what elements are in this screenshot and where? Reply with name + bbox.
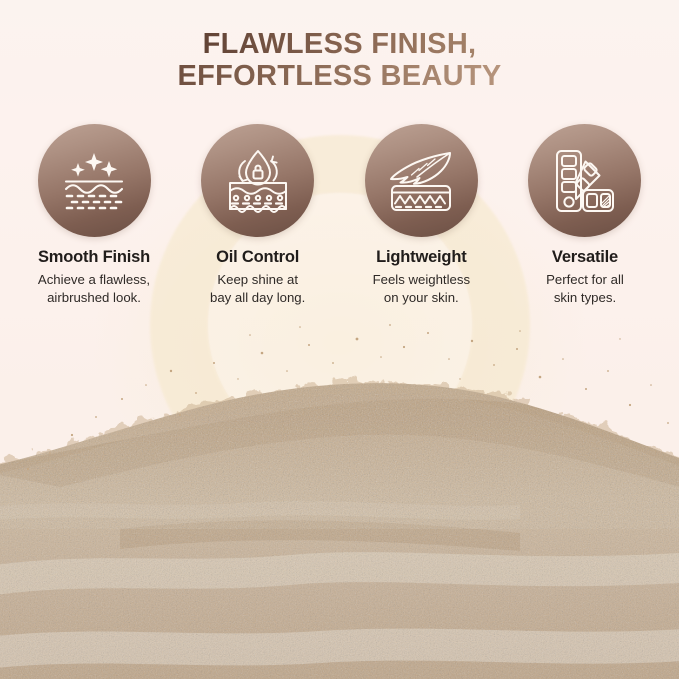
feature-icon-circle xyxy=(365,124,478,237)
feature-desc-line-1: Perfect for all xyxy=(509,271,661,289)
oil-droplet-lock-icon xyxy=(225,149,291,213)
feature-icon-circle xyxy=(38,124,151,237)
feature-desc-line-2: on your skin. xyxy=(345,289,497,307)
feature-desc-line-2: bay all day long. xyxy=(182,289,334,307)
powder-graphic xyxy=(0,319,679,679)
feature-title: Oil Control xyxy=(182,248,334,267)
feature-description: Feels weightless on your skin. xyxy=(345,271,497,306)
feature-desc-line-2: airbrushed look. xyxy=(18,289,170,307)
feature-item-lightweight[interactable]: Lightweight Feels weightless on your ski… xyxy=(345,124,497,306)
color-swatch-fan-icon xyxy=(554,149,616,213)
feature-title: Lightweight xyxy=(345,248,497,267)
feature-description: Achieve a flawless, airbrushed look. xyxy=(18,271,170,306)
page-title: FLAWLESS FINISH, EFFORTLESS BEAUTY xyxy=(0,28,679,93)
loose-powder-mound xyxy=(0,319,679,679)
feature-icon-circle xyxy=(201,124,314,237)
title-line-1: FLAWLESS FINISH, xyxy=(0,28,679,60)
feature-icon-circle xyxy=(528,124,641,237)
feature-desc-line-1: Achieve a flawless, xyxy=(18,271,170,289)
feature-title: Smooth Finish xyxy=(18,248,170,267)
feature-title: Versatile xyxy=(509,248,661,267)
feature-description: Perfect for all skin types. xyxy=(509,271,661,306)
feature-item-smooth-finish[interactable]: Smooth Finish Achieve a flawless, airbru… xyxy=(18,124,170,306)
feature-description: Keep shine at bay all day long. xyxy=(182,271,334,306)
feature-desc-line-1: Feels weightless xyxy=(345,271,497,289)
feature-desc-line-2: skin types. xyxy=(509,289,661,307)
title-line-2: EFFORTLESS BEAUTY xyxy=(0,60,679,92)
feature-desc-line-1: Keep shine at xyxy=(182,271,334,289)
feature-item-oil-control[interactable]: Oil Control Keep shine at bay all day lo… xyxy=(182,124,334,306)
sparkle-skin-icon xyxy=(61,150,127,212)
feature-item-versatile[interactable]: Versatile Perfect for all skin types. xyxy=(509,124,661,306)
feature-list: Smooth Finish Achieve a flawless, airbru… xyxy=(0,124,679,306)
feather-skin-icon xyxy=(387,150,455,212)
